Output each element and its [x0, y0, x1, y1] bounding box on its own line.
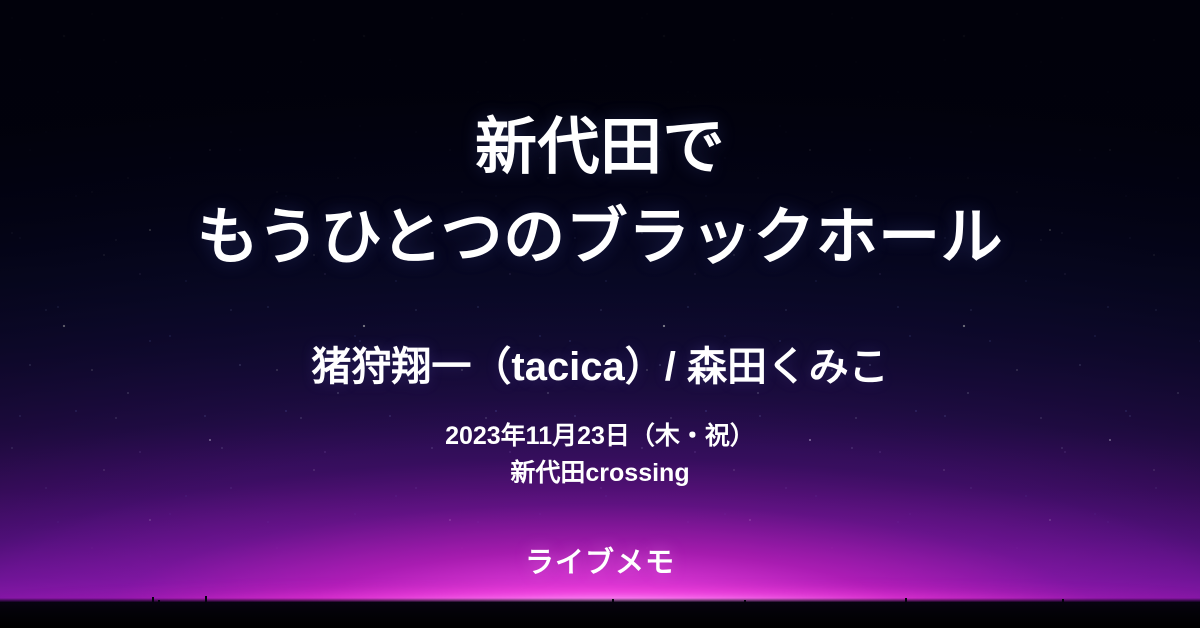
- page-title: 新代田で もうひとつのブラックホール: [197, 103, 1003, 283]
- event-venue: 新代田crossing: [510, 458, 689, 489]
- title-line-2: もうひとつのブラックホール: [197, 193, 1003, 283]
- title-line-1: 新代田で: [197, 103, 1003, 193]
- brand-label: ライブメモ: [525, 546, 675, 581]
- live-event-poster: 新代田で もうひとつのブラックホール 猪狩翔一（tacica）/ 森田くみこ 2…: [0, 0, 1200, 628]
- poster-content: 新代田で もうひとつのブラックホール 猪狩翔一（tacica）/ 森田くみこ 2…: [0, 0, 1200, 628]
- event-date: 2023年11月23日（木・祝）: [445, 421, 755, 452]
- performers-line: 猪狩翔一（tacica）/ 森田くみこ: [311, 345, 888, 389]
